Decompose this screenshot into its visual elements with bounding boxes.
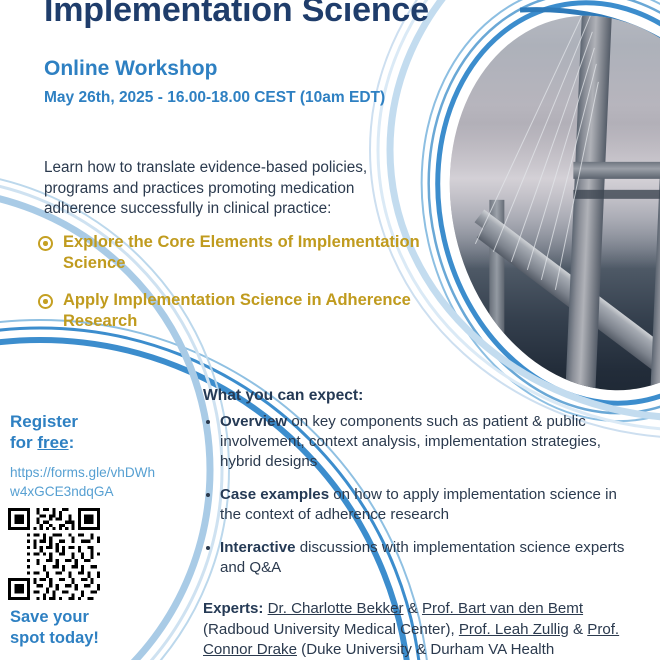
goal-label: Apply Implementation Science in Adherenc…: [63, 290, 428, 332]
expert-name-1[interactable]: Dr. Charlotte Bekker: [268, 600, 404, 617]
experts-amp-1: &: [404, 600, 422, 617]
expect-heading: What you can expect:: [203, 387, 363, 405]
save-spot-line-1: Save your: [10, 608, 89, 626]
bullet-dot-icon: [206, 493, 210, 497]
list-item-text: Case examples on how to apply implementa…: [220, 485, 641, 525]
expect-list: Overview on key components such as patie…: [203, 412, 641, 591]
page-title: Implementation Science: [44, 0, 429, 32]
bridge-photo: [413, 0, 660, 421]
goal-label: Explore the Core Elements of Implementat…: [63, 232, 428, 274]
bullet-dot-icon: [206, 546, 210, 550]
target-bullet-icon: [38, 294, 53, 309]
save-spot-line-2: spot today!: [10, 629, 99, 647]
experts-affiliation-2: (Duke University & Durham VA Health: [297, 641, 554, 658]
qr-code-icon: [8, 508, 100, 600]
event-type: Online Workshop: [44, 56, 217, 82]
registration-url[interactable]: https://forms.gle/vhDWhw4xGCE3ndqGA: [10, 464, 160, 501]
event-datetime: May 26th, 2025 - 16.00-18.00 CEST (10am …: [44, 88, 385, 108]
list-item: Case examples on how to apply implementa…: [203, 485, 641, 525]
experts-label: Experts:: [203, 600, 263, 617]
list-item-lead: Overview: [220, 413, 287, 430]
list-item: Overview on key components such as patie…: [203, 412, 641, 472]
target-bullet-icon: [38, 236, 53, 251]
expert-name-2[interactable]: Prof. Bart van den Bemt: [422, 600, 583, 617]
qr-code[interactable]: [8, 508, 100, 600]
expert-name-3[interactable]: Prof. Leah Zullig: [459, 621, 569, 638]
save-spot-cta: Save your spot today!: [10, 607, 99, 649]
workshop-poster: Implementation Science Online Workshop M…: [0, 0, 660, 660]
register-line-2-prefix: for: [10, 433, 37, 452]
goals-list: Explore the Core Elements of Implementat…: [38, 232, 428, 348]
register-line-2-suffix: :: [69, 433, 75, 452]
register-free-link[interactable]: free: [37, 433, 68, 452]
goal-item: Apply Implementation Science in Adherenc…: [38, 290, 428, 332]
experts-affiliation-1: (Radboud University Medical Center),: [203, 621, 459, 638]
experts-block: Experts: Dr. Charlotte Bekker & Prof. Ba…: [203, 599, 651, 660]
bridge-photo-image: [423, 0, 660, 421]
experts-amp-2: &: [569, 621, 587, 638]
lead-paragraph: Learn how to translate evidence-based po…: [44, 158, 416, 220]
goal-item: Explore the Core Elements of Implementat…: [38, 232, 428, 274]
list-item-text: Interactive discussions with implementat…: [220, 538, 641, 578]
register-heading: Register for free:: [10, 411, 78, 453]
bullet-dot-icon: [206, 420, 210, 424]
list-item-lead: Case examples: [220, 486, 329, 503]
bridge-cables: [423, 0, 660, 421]
list-item-text: Overview on key components such as patie…: [220, 412, 641, 472]
register-line-1: Register: [10, 412, 78, 431]
list-item-lead: Interactive: [220, 539, 296, 556]
list-item: Interactive discussions with implementat…: [203, 538, 641, 578]
